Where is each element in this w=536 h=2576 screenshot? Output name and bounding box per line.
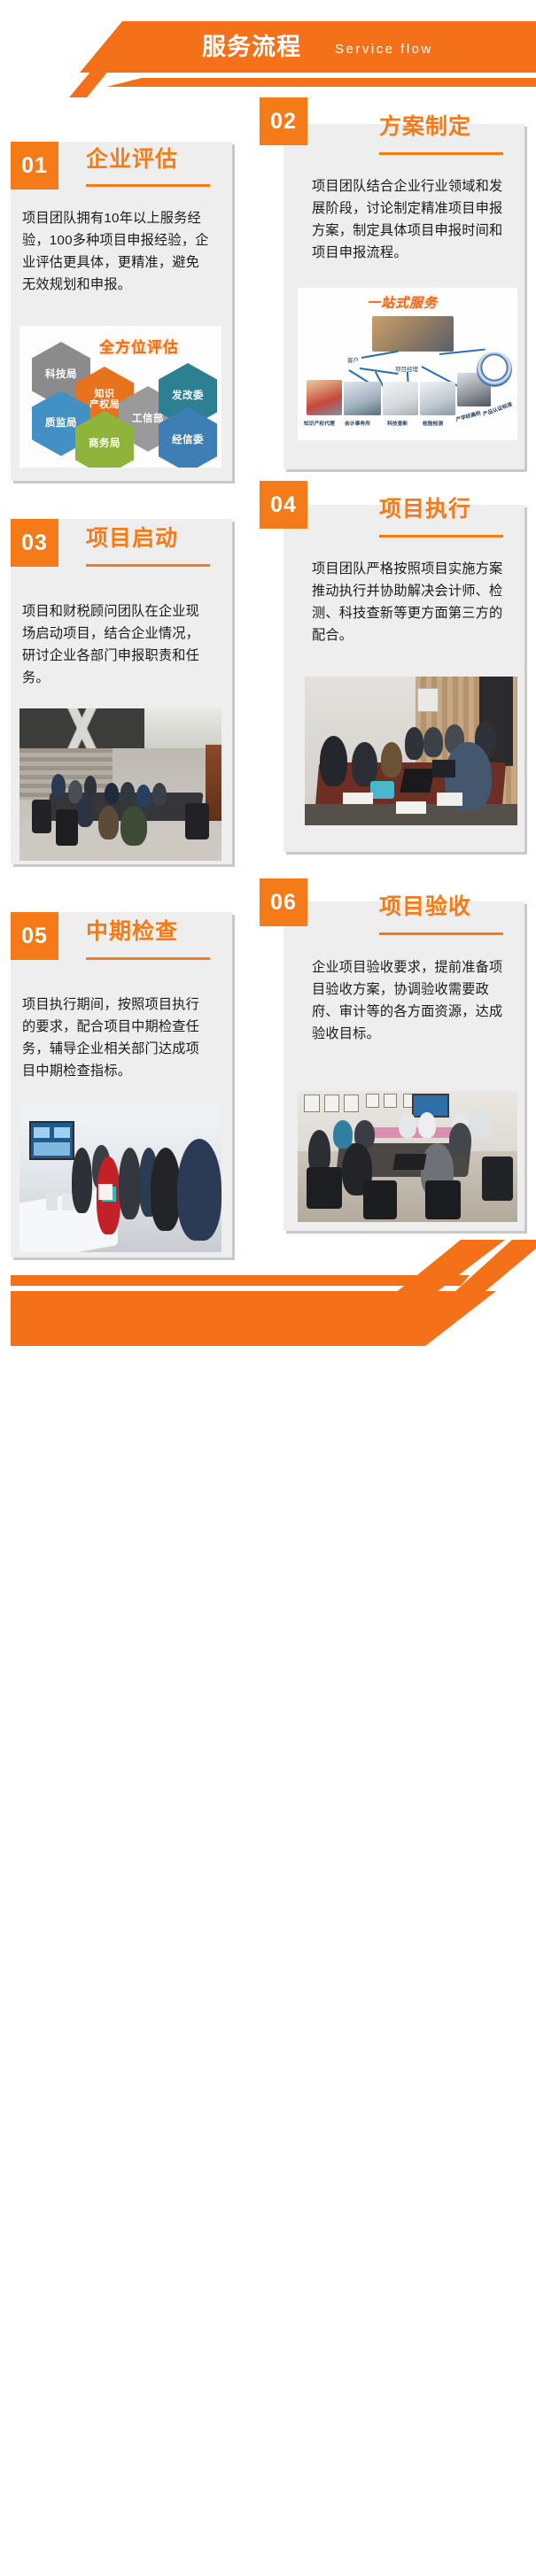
card-01-body: 项目团队拥有10年以上服务经验，100多种项目申报经验，企业评估更具体，更精准，…: [22, 207, 213, 296]
hexagon-diagram: 全方位评估 科技局 知识 产权局 质监局 工信部 商务局 发改委 经信委: [19, 326, 221, 468]
card-03-title: 项目启动: [86, 528, 178, 550]
one-stop-node-4: [420, 382, 455, 415]
one-stop-title: 一站式服务: [367, 293, 438, 312]
one-stop-center-photo: [372, 316, 454, 352]
one-stop-blabel-4: 检验检测: [423, 419, 443, 427]
header-banner: 服务流程 Service flow: [0, 0, 536, 96]
card-04-title-rule: [379, 535, 503, 538]
page-subtitle: Service flow: [335, 43, 433, 56]
footer-banner: 全国统一热线： 400-150-1560: [0, 1240, 536, 1362]
card-06-body: 企业项目验收要求，提前准备项目验收方案，协调验收需要政府、审计等的各方面资源，达…: [312, 956, 512, 1045]
card-04-body: 项目团队严格按照项目实施方案推动执行并协助解决会计师、检测、科技查新等更方面第三…: [312, 558, 512, 646]
footer-stripe: [11, 1275, 470, 1286]
one-stop-blabel-3: 科技查新: [387, 419, 408, 427]
site-visit-photo: [19, 1103, 221, 1252]
card-03-title-rule: [86, 564, 210, 567]
one-stop-node-3: [383, 382, 418, 415]
card-03-body: 项目和财税顾问团队在企业现场启动项目，结合企业情况，研讨企业各部门申报职责和任务…: [22, 600, 213, 689]
card-03-number: 03: [11, 519, 58, 567]
card-02-body: 项目团队结合企业行业领域和发展阶段，讨论制定精准项目申报方案，制定具体项目申报时…: [312, 175, 512, 264]
hexagon-diagram-title: 全方位评估: [99, 335, 179, 357]
one-stop-blabel-1: 知识产权代理: [304, 419, 335, 427]
one-stop-arrow-2: [360, 367, 399, 375]
card-01-number: 01: [11, 142, 58, 190]
card-05-number: 05: [11, 912, 58, 960]
footer-hotline-label: 全国统一热线：: [51, 2554, 157, 2575]
card-05-title: 中期检查: [86, 921, 178, 943]
one-stop-node-2: [344, 382, 381, 415]
one-stop-node-1: [307, 380, 342, 415]
card-01-title: 企业评估: [86, 149, 178, 171]
footer-hotline-number[interactable]: 400-150-1560: [161, 2549, 310, 2576]
card-02-number: 02: [260, 97, 307, 145]
card-05-body: 项目执行期间，按照项目执行的要求，配合项目中期检查任务，辅导企业相关部门达成项目…: [22, 994, 213, 1082]
header-bar-main: [80, 21, 536, 73]
card-02-title: 方案制定: [379, 116, 471, 138]
header-bar-stripe: [106, 78, 536, 87]
one-stop-arrow-1: [361, 351, 399, 359]
footer-banner-shape: [0, 1240, 536, 1362]
meeting-laptops-photo: [305, 677, 517, 825]
card-02-title-rule: [379, 152, 503, 155]
card-06-title: 项目验收: [379, 896, 471, 918]
one-stop-blabel-2: 会计事务所: [345, 419, 370, 427]
one-stop-label-customer: 客户: [347, 355, 359, 364]
one-stop-service-diagram: 一站式服务 客户 项目经理 知识产权代理 会计事务所 科技查新 检验检测 产学研…: [298, 288, 517, 440]
card-06-number: 06: [260, 878, 307, 926]
conference-room-photo: [19, 708, 221, 861]
page-title: 服务流程: [202, 35, 301, 59]
card-01-title-rule: [86, 184, 210, 187]
card-04-title: 项目执行: [379, 499, 471, 521]
card-06-title-rule: [379, 932, 503, 935]
one-stop-blabel-5: 产学研高校: [454, 408, 481, 423]
acceptance-meeting-photo: [298, 1091, 517, 1222]
card-04-number: 04: [260, 481, 307, 529]
one-stop-badge-iso: [477, 352, 512, 387]
card-05-title-rule: [86, 957, 210, 960]
